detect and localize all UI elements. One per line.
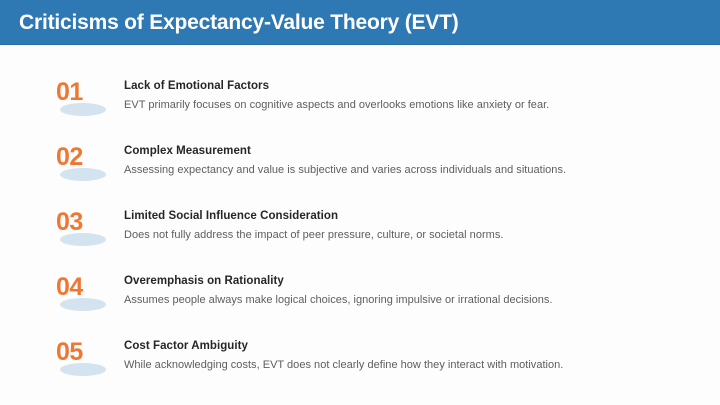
item-number: 02 bbox=[56, 143, 83, 172]
item-number-group: 05 bbox=[56, 338, 124, 382]
item-number: 05 bbox=[56, 338, 83, 367]
item-text-group: Limited Social Influence Consideration D… bbox=[124, 208, 503, 243]
item-text-group: Lack of Emotional Factors EVT primarily … bbox=[124, 78, 549, 113]
list-item: 03 Limited Social Influence Consideratio… bbox=[0, 208, 720, 273]
item-number-group: 01 bbox=[56, 78, 124, 122]
list-item: 02 Complex Measurement Assessing expecta… bbox=[0, 143, 720, 208]
item-description: Does not fully address the impact of pee… bbox=[124, 229, 503, 243]
item-description: Assessing expectancy and value is subjec… bbox=[124, 164, 566, 178]
item-description: Assumes people always make logical choic… bbox=[124, 294, 553, 308]
list-item: 05 Cost Factor Ambiguity While acknowled… bbox=[0, 338, 720, 403]
item-text-group: Cost Factor Ambiguity While acknowledgin… bbox=[124, 338, 563, 373]
page-title: Criticisms of Expectancy-Value Theory (E… bbox=[19, 12, 459, 33]
item-title: Lack of Emotional Factors bbox=[124, 79, 549, 93]
item-title: Complex Measurement bbox=[124, 144, 566, 158]
item-number: 03 bbox=[56, 208, 83, 237]
item-text-group: Complex Measurement Assessing expectancy… bbox=[124, 143, 566, 178]
list-item: 01 Lack of Emotional Factors EVT primari… bbox=[0, 78, 720, 143]
item-title: Cost Factor Ambiguity bbox=[124, 339, 563, 353]
item-title: Limited Social Influence Consideration bbox=[124, 209, 503, 223]
item-text-group: Overemphasis on Rationality Assumes peop… bbox=[124, 273, 553, 308]
item-number: 04 bbox=[56, 273, 83, 302]
item-number-group: 03 bbox=[56, 208, 124, 252]
item-title: Overemphasis on Rationality bbox=[124, 274, 553, 288]
item-number-group: 04 bbox=[56, 273, 124, 317]
item-number-group: 02 bbox=[56, 143, 124, 187]
criticisms-list: 01 Lack of Emotional Factors EVT primari… bbox=[0, 45, 720, 403]
item-number: 01 bbox=[56, 78, 83, 107]
list-item: 04 Overemphasis on Rationality Assumes p… bbox=[0, 273, 720, 338]
item-description: EVT primarily focuses on cognitive aspec… bbox=[124, 99, 549, 113]
item-description: While acknowledging costs, EVT does not … bbox=[124, 359, 563, 373]
header-bar: Criticisms of Expectancy-Value Theory (E… bbox=[0, 0, 720, 45]
content-area: 01 Lack of Emotional Factors EVT primari… bbox=[0, 45, 720, 405]
